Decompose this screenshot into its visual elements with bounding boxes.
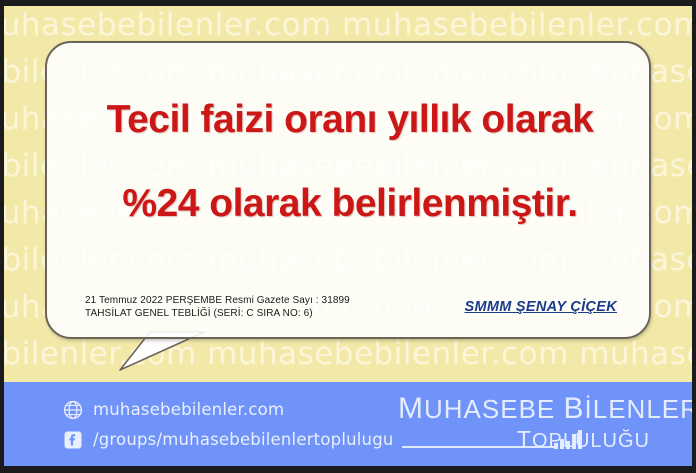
brand-name-secondary-line: TOPLULUĞU (398, 427, 650, 453)
brand-word1-cap: M (398, 392, 424, 425)
frame-edge-top (0, 0, 696, 6)
caption-line-1: 21 Temmuz 2022 PERŞEMBE Resmi Gazete Say… (85, 294, 350, 307)
frame-edge-left (0, 0, 4, 473)
brand-word2-rest: İLENLER (585, 394, 696, 424)
brand-subtitle: TOPLULUĞU (517, 427, 650, 453)
speech-bubble: Tecil faizi oranı yıllık olarak %24 olar… (45, 41, 651, 339)
footer-bar: muhasebebilenler.com /groups/muhasebebil… (4, 382, 692, 466)
brand-word1-rest: UHASEBE (424, 394, 555, 424)
contact-row-facebook[interactable]: /groups/muhasebebilenlertoplulugu (62, 426, 394, 453)
source-caption: 21 Temmuz 2022 PERŞEMBE Resmi Gazete Say… (85, 294, 350, 320)
headline: Tecil faizi oranı yıllık olarak %24 olar… (47, 91, 653, 233)
headline-line-1: Tecil faizi oranı yıllık olarak (107, 98, 594, 141)
brand-name-primary: MUHASEBE BİLENLER (398, 394, 650, 424)
author-signature: SMMM ŞENAY ÇİÇEK (465, 299, 618, 315)
frame-edge-bottom (0, 466, 696, 473)
poster-image: muhasebebilenler.com muhasebebilenler.co… (0, 0, 696, 473)
caption-line-2: TAHSİLAT GENEL TEBLİĞİ (SERİ: C SIRA NO:… (85, 307, 350, 320)
brand-word2-cap: B (564, 392, 585, 425)
frame-edge-right (692, 0, 696, 473)
facebook-icon (62, 429, 84, 451)
brand-sub-cap: T (517, 426, 532, 452)
globe-icon (62, 399, 84, 421)
contact-row-website[interactable]: muhasebebilenler.com (62, 396, 394, 423)
brand-sub-rest: OPLULUĞU (532, 430, 650, 452)
website-url: muhasebebilenler.com (93, 400, 284, 419)
facebook-group-url: /groups/muhasebebilenlertoplulugu (93, 430, 394, 449)
headline-line-2: %24 olarak belirlenmiştir. (47, 175, 653, 233)
contact-list: muhasebebilenler.com /groups/muhasebebil… (62, 396, 394, 456)
brand-logo: MUHASEBE BİLENLER TOPLULUĞU (398, 394, 650, 456)
